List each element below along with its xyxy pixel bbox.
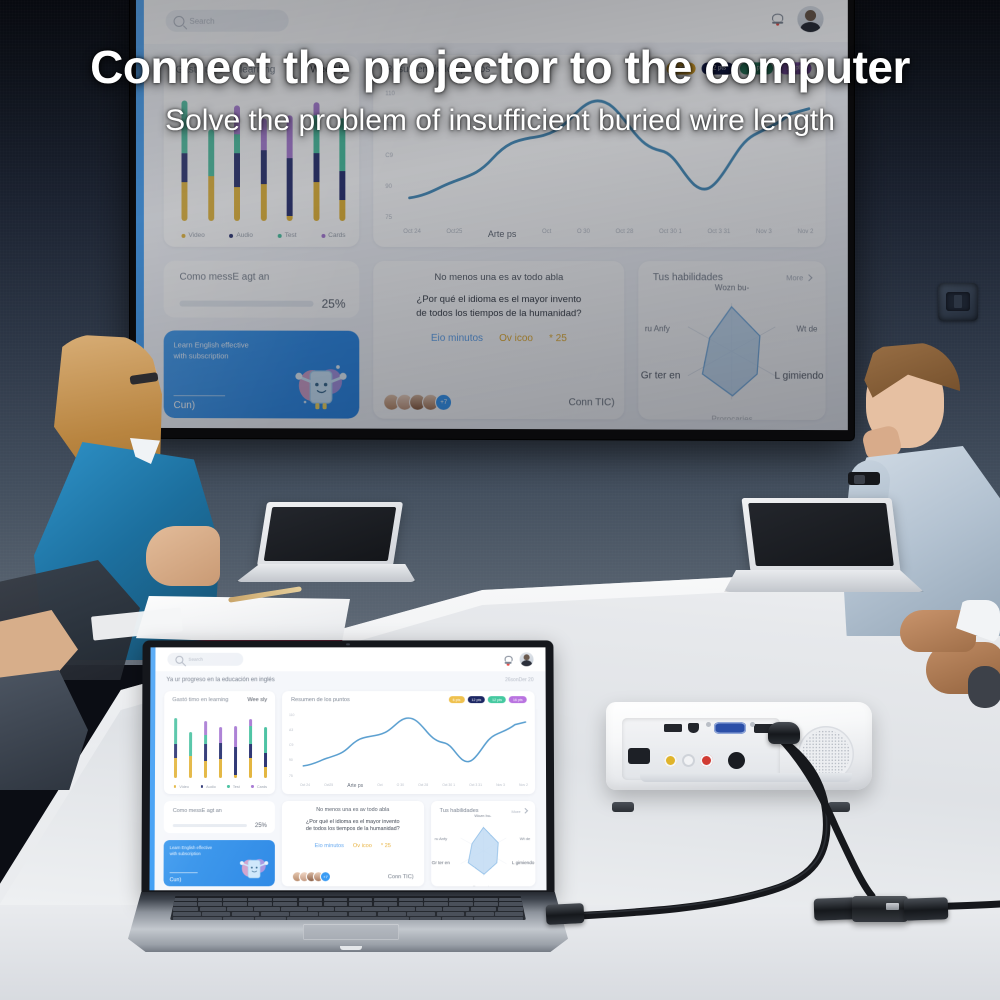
vga-connector-projector [768, 722, 800, 744]
progress-card-title: Como messE agt an [173, 808, 222, 814]
radar-chart: Wozn bu- Wt de L gimiendo Prorocaries Gr… [639, 283, 826, 420]
laptop-trackpad[interactable] [303, 924, 399, 940]
question-card-footer-label: Conn TIC) [569, 397, 615, 408]
progress-track [180, 301, 314, 307]
laptop: Search Ya ur progreso en la educación en… [128, 640, 568, 960]
webcam-icon [346, 643, 350, 645]
subheader-title: Ya ur progreso en la educación en inglés [166, 677, 274, 683]
panel-screw-icon [750, 722, 755, 727]
avatar-more[interactable]: +7 [320, 871, 331, 882]
radar-card-more[interactable]: More [512, 809, 528, 814]
bar-chart-legend: Video Audio Test Cards [181, 232, 345, 239]
rca-video-jack-icon [664, 754, 677, 767]
rca-audio-right-jack-icon [700, 754, 713, 767]
bar-column [249, 713, 253, 777]
legend-item: Audio [201, 785, 216, 789]
bar-chart [174, 713, 267, 777]
progress-percent: 25% [255, 823, 267, 829]
progress-panel: Como messE agt an 25% [164, 801, 275, 834]
laptop-lid: Search Ya ur progreso en la educación en… [141, 640, 554, 898]
vga-connector-left-of-coupler [814, 897, 857, 920]
radar-label-lower-right: L gimiendo [775, 371, 824, 382]
laptop-back-left [236, 502, 416, 600]
radar-label-bottom: Prorocaries [473, 884, 494, 886]
promo-text: Learn English effectivewith subscription [170, 845, 231, 858]
dashboard-topbar: Search [144, 0, 848, 44]
radar-label-lower-left: Gr ter en [432, 860, 450, 865]
legend-item: Video [174, 785, 189, 789]
bar-column [174, 713, 178, 777]
meta-count: * 25 [549, 333, 567, 344]
avatar-stack: +7 [383, 394, 452, 411]
bar-column [234, 713, 238, 777]
radar-label-top: Wozn bu- [474, 813, 491, 818]
search-input[interactable]: Search [167, 653, 243, 666]
radar-label-lower-left: Gr ter en [641, 371, 681, 382]
search-placeholder: Search [188, 657, 203, 662]
usb-port-icon [664, 724, 682, 732]
vga-port-icon [714, 722, 746, 734]
radar-label-upper-left: ru Anfy [645, 324, 670, 333]
pill-tag[interactable]: 16 pts [509, 696, 527, 703]
user-avatar-icon[interactable] [520, 652, 534, 666]
line-chart-x-axis: Oct 24Oct25 Arte psOct O 30Oct 28 Oct 30… [300, 783, 528, 789]
line-chart [302, 713, 527, 777]
search-input[interactable]: Search [166, 10, 289, 32]
laptop-back-right [724, 498, 924, 618]
meta-duration: Eio minutos [315, 843, 344, 849]
progress-panel: Como messE agt an 25% [164, 261, 360, 318]
bar-card-subtitle: Wee sly [247, 697, 267, 703]
radar-card-title: Tus habilidades [440, 808, 479, 814]
progress-percent: 25% [322, 297, 346, 311]
search-icon [174, 15, 185, 26]
card-question: No menos una es av todo abla ¿Por qué el… [373, 261, 624, 419]
dashboard-laptop: Search Ya ur progreso en la educación en… [149, 647, 546, 890]
card-skills: Tus habilidades More [639, 261, 826, 420]
vga-connector-laptop [546, 903, 585, 925]
legend-item: Cards [321, 232, 345, 239]
question-card-body: ¿Por qué el idioma es el mayor invento d… [292, 819, 414, 835]
legend-item: Test [278, 232, 297, 239]
rca-audio-left-jack-icon [682, 754, 695, 767]
bar-card-title: Gastó timo en learning [172, 697, 228, 703]
page-subtitle: Solve the problem of insufficient buried… [0, 104, 1000, 138]
page-title: Connect the projector to the computer [0, 40, 1000, 94]
card-question: No menos una es av todo abla ¿Por qué el… [282, 801, 424, 887]
pill-tag[interactable]: 12 pts [467, 696, 485, 703]
laptop-keyboard[interactable] [170, 896, 526, 920]
radar-label-lower-right: L gimiendo [512, 860, 534, 865]
avatar-stack: +7 [292, 871, 331, 882]
user-avatar-icon[interactable] [797, 6, 823, 32]
radar-card-title: Tus habilidades [653, 272, 723, 283]
legend-item: Test [227, 785, 239, 789]
audio-out-jack-icon [728, 752, 745, 769]
promo-button[interactable]: Cun) [170, 877, 182, 883]
legend-item: Video [181, 232, 204, 239]
card-points-summary: Resumen de los puntos 6 pts 12 pts 12 pt… [282, 691, 535, 793]
radar-chart: Wozn bu- Wt de L gimiendo Prorocaries Gr… [431, 815, 536, 887]
dashboard-topbar: Search [155, 647, 545, 671]
projector-foot-right [828, 802, 850, 812]
dashboard-cards: Gastó timo en learning Wee sly [164, 691, 536, 886]
question-card-body: ¿Por qué el idioma es el mayor invento d… [383, 293, 614, 321]
radar-label-bottom: Prorocaries [711, 415, 752, 420]
card-mascot-icon [237, 851, 271, 885]
bar-column [219, 713, 223, 777]
chevron-right-icon [523, 809, 528, 814]
progress-card-title: Como messE agt an [180, 272, 270, 283]
line-chart-x-axis: Oct 24 Oct25 Arte ps Oct O 30 Oct 28 Oct… [403, 229, 813, 239]
card-mascot-icon [290, 355, 352, 417]
projector [596, 696, 878, 814]
question-card-title: No menos una es av todo abla [373, 272, 624, 283]
card-skills: Tus habilidades More [431, 801, 536, 887]
radar-label-top: Wozn bu- [715, 284, 749, 293]
notification-bell-icon[interactable] [505, 656, 512, 663]
chevron-right-icon [805, 275, 812, 282]
question-card-title: No menos una es av todo abla [282, 807, 424, 813]
question-card-footer: +7 Conn TIC) [383, 394, 614, 412]
avatar-more[interactable]: +7 [435, 394, 452, 411]
legend-item: Cards [251, 785, 267, 789]
pill-tag[interactable]: 6 pts [449, 696, 465, 703]
question-card-footer-label: Conn TIC) [388, 874, 414, 880]
scene-root: Search Gastó timo en learning Wee sly [0, 0, 1000, 1000]
laptop-latch-notch [340, 946, 362, 950]
promo-card[interactable]: Learn English effectivewith subscription… [164, 840, 275, 886]
card-progress: Como messE agt an 25% Learn English effe… [164, 801, 275, 887]
bar-column [189, 713, 193, 777]
meta-label: Ov icoo [499, 333, 533, 344]
line-card-title: Resumen de los puntos [291, 697, 350, 703]
power-socket-icon [628, 748, 650, 764]
meta-count: * 25 [381, 843, 391, 849]
progress-row: 25% [180, 297, 346, 311]
laptop-screen: Search Ya ur progreso en la educación en… [149, 647, 546, 890]
notification-bell-icon[interactable] [772, 14, 783, 25]
search-placeholder: Search [189, 16, 214, 25]
search-icon [175, 655, 183, 663]
pill-tag[interactable]: 12 pts [488, 696, 506, 703]
question-card-meta: Eio minutos Ov icoo * 25 [373, 333, 624, 344]
meta-duration: Eio minutos [431, 333, 483, 344]
radar-label-upper-left: ru Anfy [435, 836, 447, 841]
legend-item: Audio [229, 232, 252, 239]
bar-column [204, 713, 208, 777]
panel-screw-icon [706, 722, 711, 727]
vga-connector-right-of-coupler [904, 897, 949, 921]
dashboard-accent-rail [149, 647, 155, 890]
progress-row: 25% [173, 823, 267, 829]
meta-label: Ov icoo [353, 843, 372, 849]
person-bottom-left [0, 610, 100, 790]
radar-label-upper-right: Wt de [520, 836, 530, 841]
projector-lower-rail [640, 773, 852, 782]
radar-card-more[interactable]: More [786, 274, 811, 283]
question-card-meta: Eio minutos Ov icoo * 25 [282, 843, 424, 849]
bar-column [264, 713, 268, 777]
vga-coupler [852, 896, 908, 922]
card-learning-time: Gastó timo en learning Wee sly [164, 691, 275, 793]
usb-b-port-icon [688, 723, 699, 733]
question-card-footer: +7 Conn TIC) [292, 871, 414, 882]
projector-foot-left [612, 802, 634, 812]
radar-label-upper-right: Wt de [796, 325, 817, 334]
promo-divider [170, 872, 198, 873]
projector-body [606, 702, 872, 790]
subheader-date: 26sonDer 20 [505, 677, 534, 683]
dashboard-subheader: Ya ur progreso en la educación en inglés… [166, 677, 533, 683]
line-card-pills: 6 pts 12 pts 12 pts 16 pts [449, 696, 527, 703]
projector-port-panel [622, 718, 780, 780]
progress-track [173, 824, 247, 827]
wall-mounted-panel-icon [938, 283, 978, 321]
bar-chart-legend: Video Audio Test Cards [174, 785, 267, 789]
